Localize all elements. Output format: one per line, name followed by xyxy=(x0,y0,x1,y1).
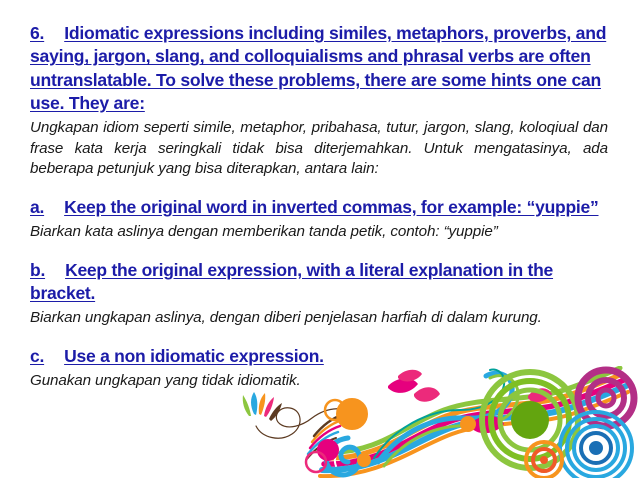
spacer xyxy=(30,243,608,259)
brown-spiral-tail xyxy=(256,408,360,438)
heading-item-c: c.Use a non idiomatic expression. xyxy=(30,345,608,368)
heading-item-b-text: Keep the original expression, with a lit… xyxy=(30,260,553,303)
heading-item-b: b.Keep the original expression, with a l… xyxy=(30,259,608,305)
orange-dots xyxy=(325,399,476,467)
blue-concentric-circles xyxy=(560,412,632,478)
body-item-c: Gunakan ungkapan yang tidak idiomatik. xyxy=(30,371,608,392)
spacer xyxy=(30,329,608,345)
slide-canvas: 6.Idiomatic expressions including simile… xyxy=(0,0,638,478)
heading-item-c-text: Use a non idiomatic expression. xyxy=(64,346,324,366)
body-item-6: Ungkapan idiom seperti simile, metaphor,… xyxy=(30,118,608,180)
heading-item-a: a.Keep the original word in inverted com… xyxy=(30,196,608,219)
heading-item-a-marker: a. xyxy=(30,197,44,217)
body-item-a: Biarkan kata aslinya dengan memberikan t… xyxy=(30,222,608,243)
magenta-dots xyxy=(306,439,339,472)
body-item-b: Biarkan ungkapan aslinya, dengan diberi … xyxy=(30,308,608,329)
left-feather-burst xyxy=(243,392,282,421)
orange-concentric-circles xyxy=(526,442,562,478)
heading-item-6-marker: 6. xyxy=(30,23,44,43)
heading-item-c-marker: c. xyxy=(30,346,44,366)
color-streak-fan xyxy=(306,414,344,460)
heading-item-b-marker: b. xyxy=(30,260,45,280)
heading-item-6-text: Idiomatic expressions including similes,… xyxy=(30,23,606,113)
slide-text-content: 6.Idiomatic expressions including simile… xyxy=(30,22,608,392)
blue-spiral-curl xyxy=(326,438,360,475)
orange-circle-large xyxy=(337,399,367,429)
heading-item-a-text: Keep the original word in inverted comma… xyxy=(64,197,598,217)
spacer xyxy=(30,180,608,196)
heading-item-6: 6.Idiomatic expressions including simile… xyxy=(30,22,608,115)
